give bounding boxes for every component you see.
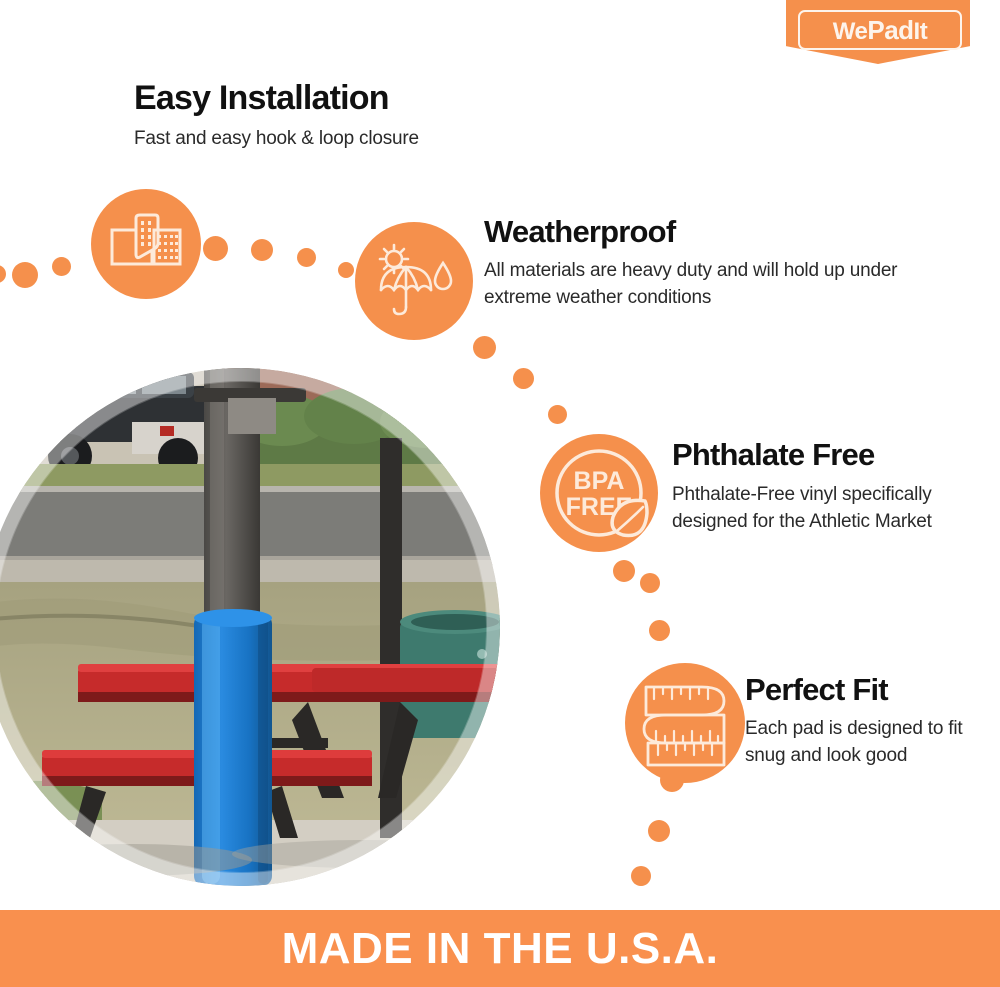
feature-icon-phthalate-free: BPA FREE xyxy=(540,434,658,552)
trail-dot xyxy=(52,257,71,276)
feature-icon-easy-installation xyxy=(91,189,201,299)
logo-outline-box: WePadIt xyxy=(798,10,962,50)
trail-dot xyxy=(251,239,273,261)
trail-dot xyxy=(338,262,354,278)
made-in-usa-text: MADE IN THE U.S.A. xyxy=(282,924,719,974)
made-in-usa-banner: MADE IN THE U.S.A. xyxy=(0,910,1000,987)
feature-title-perfect-fit: Perfect Fit xyxy=(745,672,888,708)
trail-dot xyxy=(649,620,670,641)
logo-text: WePadIt xyxy=(833,17,927,44)
feature-desc-easy-installation: Fast and easy hook & loop closure xyxy=(134,126,564,152)
feature-icon-weatherproof xyxy=(355,222,473,340)
trail-dot xyxy=(203,236,228,261)
feature-title-phthalate-free: Phthalate Free xyxy=(672,437,874,473)
trail-dot xyxy=(513,368,534,389)
trail-dot xyxy=(473,336,496,359)
measuring-tape-icon xyxy=(636,677,734,769)
product-photo-illustration xyxy=(0,368,500,886)
product-photo-circle xyxy=(0,368,500,886)
feature-title-easy-installation: Easy Installation xyxy=(134,79,389,118)
trail-dot xyxy=(0,265,6,283)
feature-desc-weatherproof: All materials are heavy duty and will ho… xyxy=(484,257,904,311)
feature-title-weatherproof: Weatherproof xyxy=(484,214,675,250)
logo-text-it: It xyxy=(914,18,928,45)
bpa-free-leaf-icon: BPA FREE xyxy=(547,441,651,545)
trail-dot xyxy=(548,405,567,424)
infographic-canvas: WePadIt xyxy=(0,0,1000,987)
trail-dot xyxy=(12,262,38,288)
trail-dot xyxy=(297,248,316,267)
brand-logo: WePadIt xyxy=(786,0,970,64)
feature-desc-phthalate-free: Phthalate-Free vinyl specifically design… xyxy=(672,481,942,535)
bpa-label-line1: BPA xyxy=(574,467,625,495)
umbrella-sun-rain-icon xyxy=(373,243,455,319)
feature-desc-perfect-fit: Each pad is designed to fit snug and loo… xyxy=(745,715,975,769)
logo-text-pad: Pad xyxy=(867,15,913,45)
logo-text-we: We xyxy=(833,18,868,45)
hook-and-loop-icon xyxy=(110,213,182,275)
trail-dot xyxy=(631,866,651,886)
feature-icon-perfect-fit xyxy=(625,663,745,783)
trail-dot xyxy=(648,820,670,842)
trail-dot xyxy=(640,573,660,593)
trail-dot xyxy=(613,560,635,582)
